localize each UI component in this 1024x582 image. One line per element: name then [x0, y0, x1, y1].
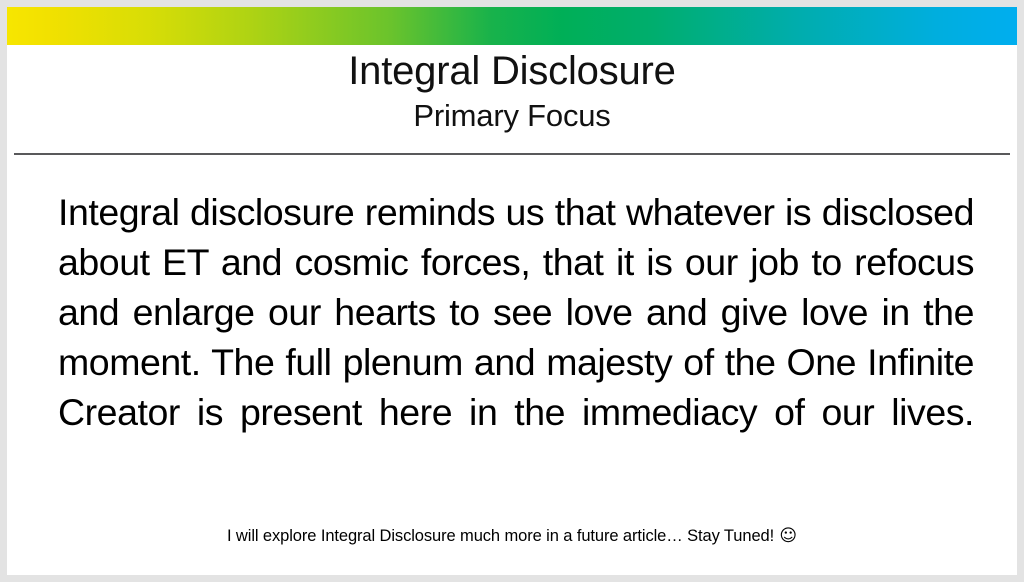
gradient-accent-bar [7, 7, 1017, 45]
smiley-face-icon: ☺ [774, 526, 797, 546]
title-block: Integral Disclosure Primary Focus [7, 47, 1017, 135]
footer-note-text: I will explore Integral Disclosure much … [227, 527, 774, 545]
page-title: Integral Disclosure [7, 47, 1017, 95]
body-paragraph: Integral disclosure reminds us that what… [58, 187, 974, 487]
footer-note: I will explore Integral Disclosure much … [7, 525, 1017, 547]
page-subtitle: Primary Focus [7, 97, 1017, 135]
slide-canvas: Integral Disclosure Primary Focus Integr… [7, 7, 1017, 575]
title-divider [14, 153, 1010, 155]
